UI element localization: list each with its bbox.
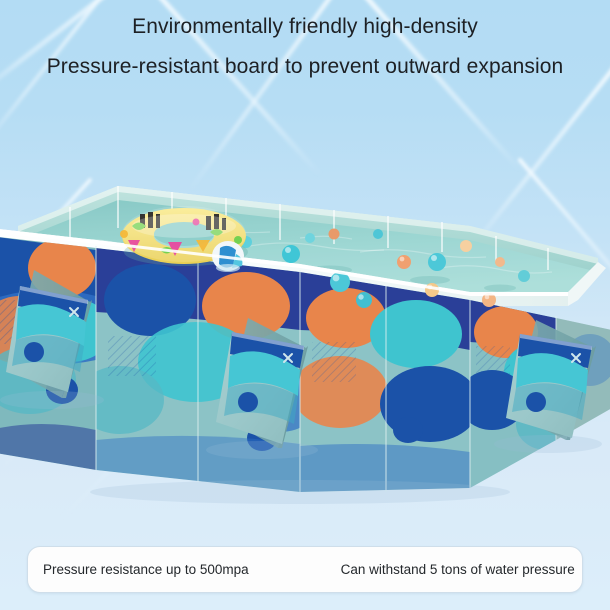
ball: [397, 255, 411, 269]
ball: [329, 229, 340, 240]
headline-block: Environmentally friendly high-density Pr…: [0, 12, 610, 82]
ball: [428, 253, 446, 271]
ball: [282, 245, 300, 263]
ball: [373, 229, 383, 239]
ball: [305, 233, 315, 243]
ball: [518, 270, 530, 282]
product-marketing-image: Environmentally friendly high-density Pr…: [0, 0, 610, 610]
headline-line-2: Pressure-resistant board to prevent outw…: [0, 52, 610, 82]
ball: [460, 240, 472, 252]
feature-caption-card: Pressure resistance up to 500mpa Can wit…: [27, 546, 583, 593]
caption-pressure-resistance: Pressure resistance up to 500mpa: [43, 562, 249, 577]
ball: [495, 257, 505, 267]
headline-line-1: Environmentally friendly high-density: [0, 12, 610, 42]
ball: [356, 292, 372, 308]
swimming-pool-illustration: [0, 0, 610, 610]
caption-water-pressure: Can withstand 5 tons of water pressure: [341, 562, 575, 577]
